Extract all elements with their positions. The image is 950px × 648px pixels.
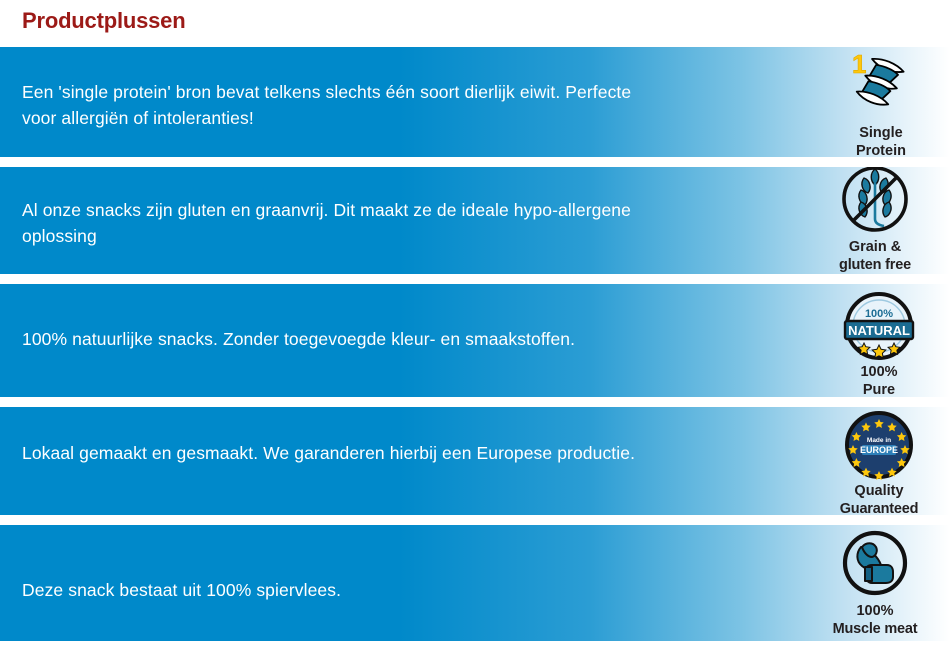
benefit-icon-block: 100% Muscle meat xyxy=(800,529,950,637)
benefit-text: Al onze snacks zijn gluten en graanvrij.… xyxy=(22,197,670,249)
badge-main-text: EUROPE xyxy=(860,445,898,455)
icon-label-line-1: Grain & xyxy=(800,239,950,255)
no-grain-icon xyxy=(800,167,950,237)
made-in-europe-icon: Made in EUROPE xyxy=(814,409,944,481)
benefit-row-grain-gluten-free: Al onze snacks zijn gluten en graanvrij.… xyxy=(0,167,950,274)
icon-label-line-1: 100% xyxy=(814,364,944,380)
benefit-row-quality-guaranteed: Lokaal gemaakt en gesmaakt. We garandere… xyxy=(0,407,950,515)
benefit-text: Deze snack bestaat uit 100% spiervlees. xyxy=(22,577,670,603)
icon-label-line-2: gluten free xyxy=(800,257,950,273)
benefit-row-single-protein: Een 'single protein' bron bevat telkens … xyxy=(0,47,950,157)
icon-label-line-2: Guaranteed xyxy=(814,501,944,515)
benefit-icon-block: Made in EUROPE Quality Guaranteed xyxy=(814,409,944,515)
badge-main-text: NATURAL xyxy=(848,323,910,338)
benefit-row-muscle-meat: Deze snack bestaat uit 100% spiervlees. xyxy=(0,525,950,641)
icon-label-line-1: Single xyxy=(816,125,946,141)
icon-label-line-1: Quality xyxy=(814,483,944,499)
icon-label-line-1: 100% xyxy=(800,603,950,619)
badge-top-text: Made in xyxy=(867,437,891,444)
icon-label-line-2: Protein xyxy=(816,143,946,157)
benefit-icon-block: 1 Single Protein xyxy=(816,51,946,157)
benefit-icon-block: 100% NATURAL 100% Pure xyxy=(814,290,944,397)
productplussen-page: Productplussen Een 'single protein' bron… xyxy=(0,0,950,648)
muscle-arm-icon xyxy=(800,529,950,601)
benefit-row-100-pure: 100% natuurlijke snacks. Zonder toegevoe… xyxy=(0,284,950,397)
benefit-text: Lokaal gemaakt en gesmaakt. We garandere… xyxy=(22,440,670,466)
badge-top-text: 100% xyxy=(865,308,893,320)
page-title: Productplussen xyxy=(22,6,185,36)
icon-label-line-2: Pure xyxy=(814,382,944,397)
benefits-list: Een 'single protein' bron bevat telkens … xyxy=(0,47,950,641)
natural-badge-icon: 100% NATURAL xyxy=(814,290,944,362)
icon-label-line-2: Muscle meat xyxy=(800,621,950,637)
benefit-text: 100% natuurlijke snacks. Zonder toegevoe… xyxy=(22,326,670,352)
dna-helix-icon: 1 xyxy=(816,51,946,123)
benefit-icon-block: Grain & gluten free xyxy=(800,167,950,273)
benefit-text: Een 'single protein' bron bevat telkens … xyxy=(22,79,670,131)
svg-text:1: 1 xyxy=(852,51,866,79)
